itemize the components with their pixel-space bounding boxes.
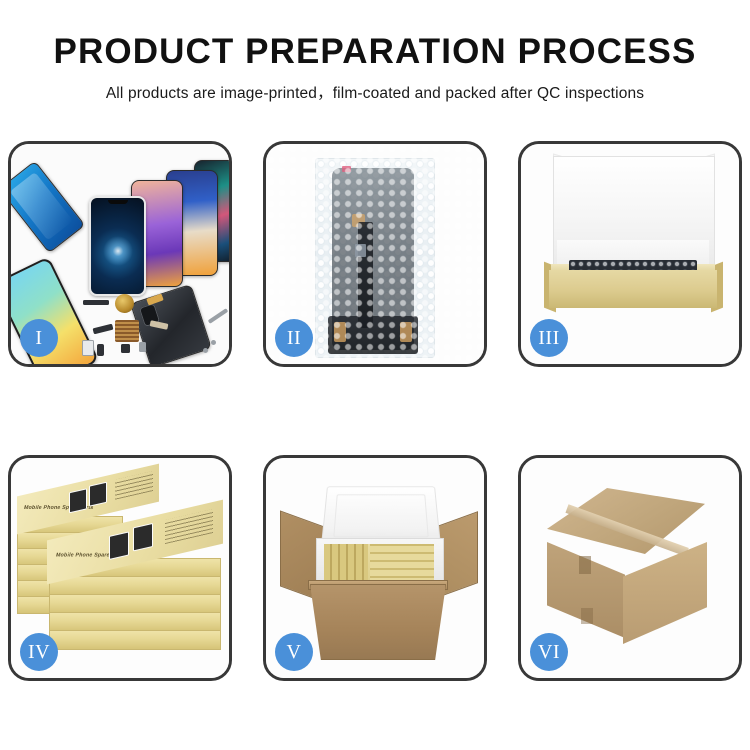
process-step-panel-4[interactable]: Mobile Phone Spare Parts Mobile Phone Sp… (8, 455, 232, 681)
step-badge-4: IV (20, 633, 58, 671)
gold-tab-left (334, 322, 346, 342)
process-step-panel-5[interactable]: V (263, 455, 487, 681)
process-step-panel-6[interactable]: VI (518, 455, 742, 681)
step-badge-1: I (20, 319, 58, 357)
phone-screen-black-bezel (89, 196, 146, 296)
process-step-panel-3[interactable]: III (518, 141, 742, 367)
carton-top-face (547, 488, 705, 554)
gold-tab-right (400, 322, 412, 342)
step-badge-3: III (530, 319, 568, 357)
connector-grid-part (115, 320, 139, 342)
process-step-panel-2[interactable]: II (263, 141, 487, 367)
step-badge-6: VI (530, 633, 568, 671)
step-badge-2: II (275, 319, 313, 357)
page-subtitle: All products are image-printed，film-coat… (0, 81, 750, 103)
carton-body (310, 584, 446, 660)
pink-label-sticker (342, 166, 351, 172)
speaker-coil-part (115, 294, 134, 313)
driver-ic (355, 244, 366, 257)
page-header: PRODUCT PREPARATION PROCESS All products… (0, 0, 750, 103)
process-step-panel-1[interactable]: I (8, 141, 232, 367)
packed-kraft-boxes (324, 544, 434, 584)
yellow-kraft-box-body (549, 270, 717, 308)
page-title: PRODUCT PREPARATION PROCESS (0, 33, 750, 72)
process-steps-grid: I II III (8, 141, 742, 681)
carton-seam-upper (579, 556, 591, 574)
carton-right-face (623, 542, 707, 644)
step-badge-5: V (275, 633, 313, 671)
carton-seam-lower (581, 608, 593, 624)
flex-cable (358, 222, 373, 328)
